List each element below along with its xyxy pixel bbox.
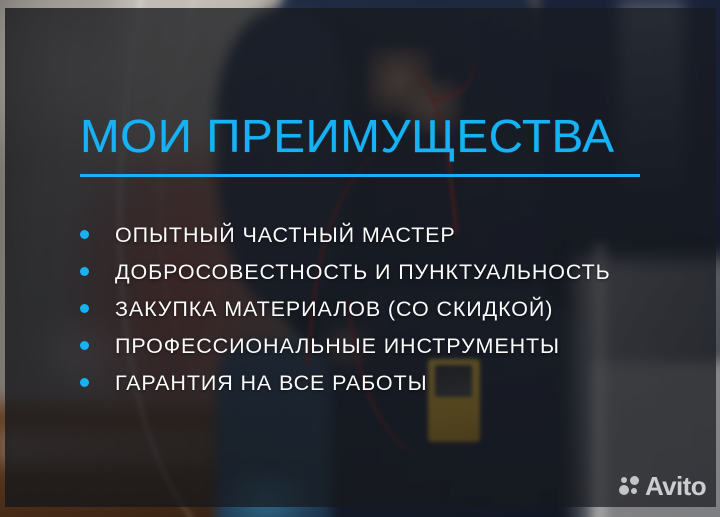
title-underline-rule — [80, 174, 640, 177]
banner-content: МОИ ПРЕИМУЩЕСТВА ОПЫТНЫЙ ЧАСТНЫЙ МАСТЕР … — [0, 0, 720, 517]
list-item: ОПЫТНЫЙ ЧАСТНЫЙ МАСТЕР — [80, 216, 680, 253]
list-item: ДОБРОСОВЕСТНОСТЬ И ПУНКТУАЛЬНОСТЬ — [80, 253, 680, 290]
list-item-label: ОПЫТНЫЙ ЧАСТНЫЙ МАСТЕР — [115, 223, 456, 247]
bullet-dot-icon — [80, 341, 89, 350]
bullet-dot-icon — [80, 304, 89, 313]
page-title: МОИ ПРЕИМУЩЕСТВА — [80, 112, 614, 160]
bullet-dot-icon — [80, 378, 89, 387]
list-item-label: ПРОФЕССИОНАЛЬНЫЕ ИНСТРУМЕНТЫ — [115, 334, 560, 358]
avito-dots-icon — [619, 476, 640, 496]
list-item: ПРОФЕССИОНАЛЬНЫЕ ИНСТРУМЕНТЫ — [80, 327, 680, 364]
bullet-dot-icon — [80, 267, 89, 276]
avito-watermark: Avito — [619, 473, 706, 499]
list-item-label: ЗАКУПКА МАТЕРИАЛОВ (СО СКИДКОЙ) — [115, 297, 553, 321]
avito-wordmark: Avito — [645, 473, 706, 499]
advantages-list: ОПЫТНЫЙ ЧАСТНЫЙ МАСТЕР ДОБРОСОВЕСТНОСТЬ … — [80, 216, 680, 401]
list-item-label: ГАРАНТИЯ НА ВСЕ РАБОТЫ — [115, 371, 428, 395]
avito-advert-banner: МОИ ПРЕИМУЩЕСТВА ОПЫТНЫЙ ЧАСТНЫЙ МАСТЕР … — [0, 0, 720, 517]
list-item: ЗАКУПКА МАТЕРИАЛОВ (СО СКИДКОЙ) — [80, 290, 680, 327]
list-item: ГАРАНТИЯ НА ВСЕ РАБОТЫ — [80, 364, 680, 401]
bullet-dot-icon — [80, 230, 89, 239]
list-item-label: ДОБРОСОВЕСТНОСТЬ И ПУНКТУАЛЬНОСТЬ — [115, 260, 611, 284]
